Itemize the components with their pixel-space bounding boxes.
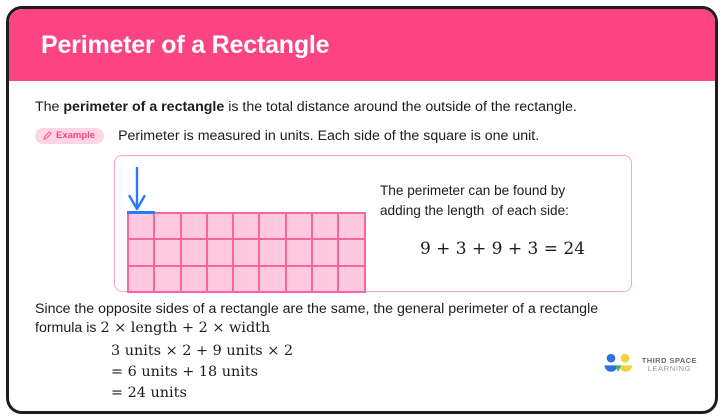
example-row: Example Perimeter is measured in units. … [35, 128, 715, 144]
grid-cell [338, 239, 364, 265]
grid-cell [338, 266, 364, 292]
grid-cell [207, 239, 233, 265]
intro-paragraph: The perimeter of a rectangle is the tota… [35, 99, 715, 117]
third-space-learning-logo-icon [602, 353, 636, 377]
grid-row [128, 266, 365, 292]
brand-name: THIRD SPACE LEARNING [642, 357, 697, 373]
grid-cell [259, 239, 285, 265]
grid-cell [312, 213, 338, 240]
grid-cell [233, 266, 259, 292]
grid-cell [207, 266, 233, 292]
grid-cell [154, 266, 180, 292]
grid-cell [128, 239, 154, 265]
grid-cell [181, 239, 207, 265]
grid-cell [338, 213, 364, 240]
brand-logo: THIRD SPACE LEARNING [602, 353, 697, 377]
example-badge: Example [35, 128, 104, 144]
general-formula: 2 × length + 2 × width [100, 320, 270, 336]
grid-cell [154, 213, 180, 240]
grid-cell [312, 239, 338, 265]
diagram-caption: The perimeter can be found by adding the… [380, 181, 625, 220]
grid-cell [259, 213, 285, 240]
grid-row [128, 239, 365, 265]
brand-name-line-2: LEARNING [642, 365, 697, 373]
page-header: Perimeter of a Rectangle [9, 9, 715, 81]
grid-cell [128, 266, 154, 292]
grid-cell [181, 266, 207, 292]
diagram-equation: 9 + 3 + 9 + 3 = 24 [380, 239, 625, 259]
grid-cell [181, 213, 207, 240]
grid-cell-highlighted [128, 213, 154, 240]
pencil-icon [43, 131, 52, 140]
grid-cell [154, 239, 180, 265]
example-text: Perimeter is measured in units. Each sid… [118, 128, 539, 144]
grid-cell [259, 266, 285, 292]
formula-lead-in: formula is [35, 320, 100, 336]
calculation-step: = 24 units [111, 383, 695, 404]
lesson-body: The perimeter of a rectangle is the tota… [9, 81, 715, 411]
intro-bold-term: perimeter of a rectangle [63, 99, 224, 115]
grid-cell [312, 266, 338, 292]
grid-cell [233, 213, 259, 240]
intro-prefix: The [35, 99, 63, 115]
closing-line-1: Since the opposite sides of a rectangle … [35, 300, 695, 319]
closing-section: Since the opposite sides of a rectangle … [35, 300, 695, 405]
intro-suffix: is the total distance around the outside… [224, 99, 577, 115]
grid-cell [286, 266, 312, 292]
grid-cell [233, 239, 259, 265]
grid-cell [286, 239, 312, 265]
closing-line-2: formula is 2 × length + 2 × width [35, 319, 695, 338]
grid-row [128, 213, 365, 240]
example-badge-label: Example [56, 131, 95, 141]
lesson-card: Perimeter of a Rectangle The perimeter o… [6, 6, 718, 414]
diagram-panel: The perimeter can be found by adding the… [114, 155, 632, 292]
page-title: Perimeter of a Rectangle [41, 31, 329, 60]
unit-grid [127, 211, 366, 293]
grid-cell [207, 213, 233, 240]
grid-cell [286, 213, 312, 240]
